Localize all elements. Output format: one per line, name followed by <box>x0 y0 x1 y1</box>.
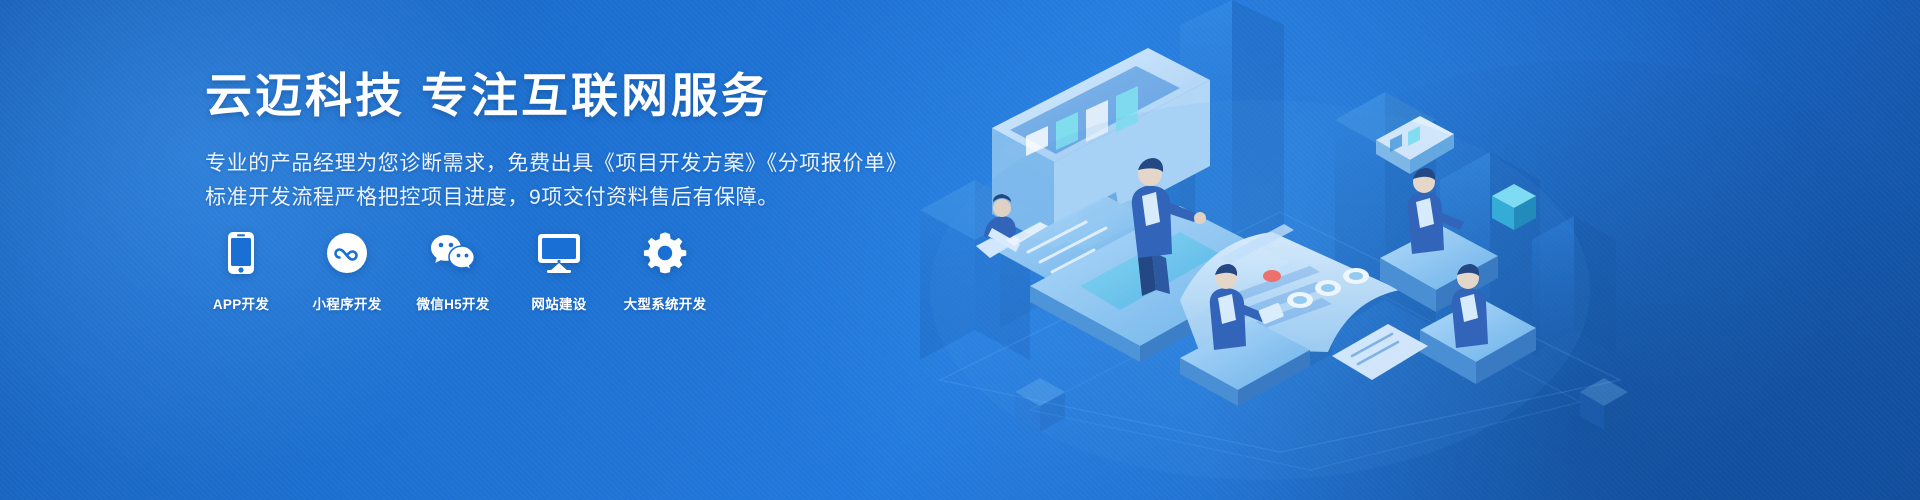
service-item-wechat[interactable]: 微信H5开发 <box>417 230 489 313</box>
gear-icon <box>643 230 687 276</box>
service-label-miniprogram: 小程序开发 <box>313 293 382 313</box>
hero-illustration <box>880 0 1920 500</box>
page-title: 云迈科技 专注互联网服务 <box>205 68 905 123</box>
service-item-miniprogram[interactable]: 小程序开发 <box>311 230 383 313</box>
mini-program-icon <box>326 230 368 276</box>
service-label-app: APP开发 <box>213 293 269 313</box>
monitor-icon <box>536 230 582 276</box>
service-label-wechat: 微信H5开发 <box>416 293 489 313</box>
service-item-website[interactable]: 网站建设 <box>523 230 595 313</box>
service-list: APP开发 小程序开发 微信 <box>205 230 701 313</box>
service-label-system: 大型系统开发 <box>624 293 707 313</box>
hero-subtitle: 专业的产品经理为您诊断需求，免费出具《项目开发方案》《分项报价单》 标准开发流程… <box>205 147 905 215</box>
hero-text-block: 云迈科技 专注互联网服务 专业的产品经理为您诊断需求，免费出具《项目开发方案》《… <box>205 68 905 215</box>
service-label-website: 网站建设 <box>531 293 586 313</box>
mobile-phone-icon <box>227 230 255 276</box>
hero-banner: 云迈科技 专注互联网服务 专业的产品经理为您诊断需求，免费出具《项目开发方案》《… <box>0 0 1920 500</box>
subtitle-line-1: 专业的产品经理为您诊断需求，免费出具《项目开发方案》《分项报价单》 <box>205 147 905 181</box>
service-item-system[interactable]: 大型系统开发 <box>629 230 701 313</box>
subtitle-line-2: 标准开发流程严格把控项目进度，9项交付资料售后有保障。 <box>205 181 905 215</box>
service-item-app[interactable]: APP开发 <box>205 230 277 313</box>
wechat-icon <box>429 230 477 276</box>
